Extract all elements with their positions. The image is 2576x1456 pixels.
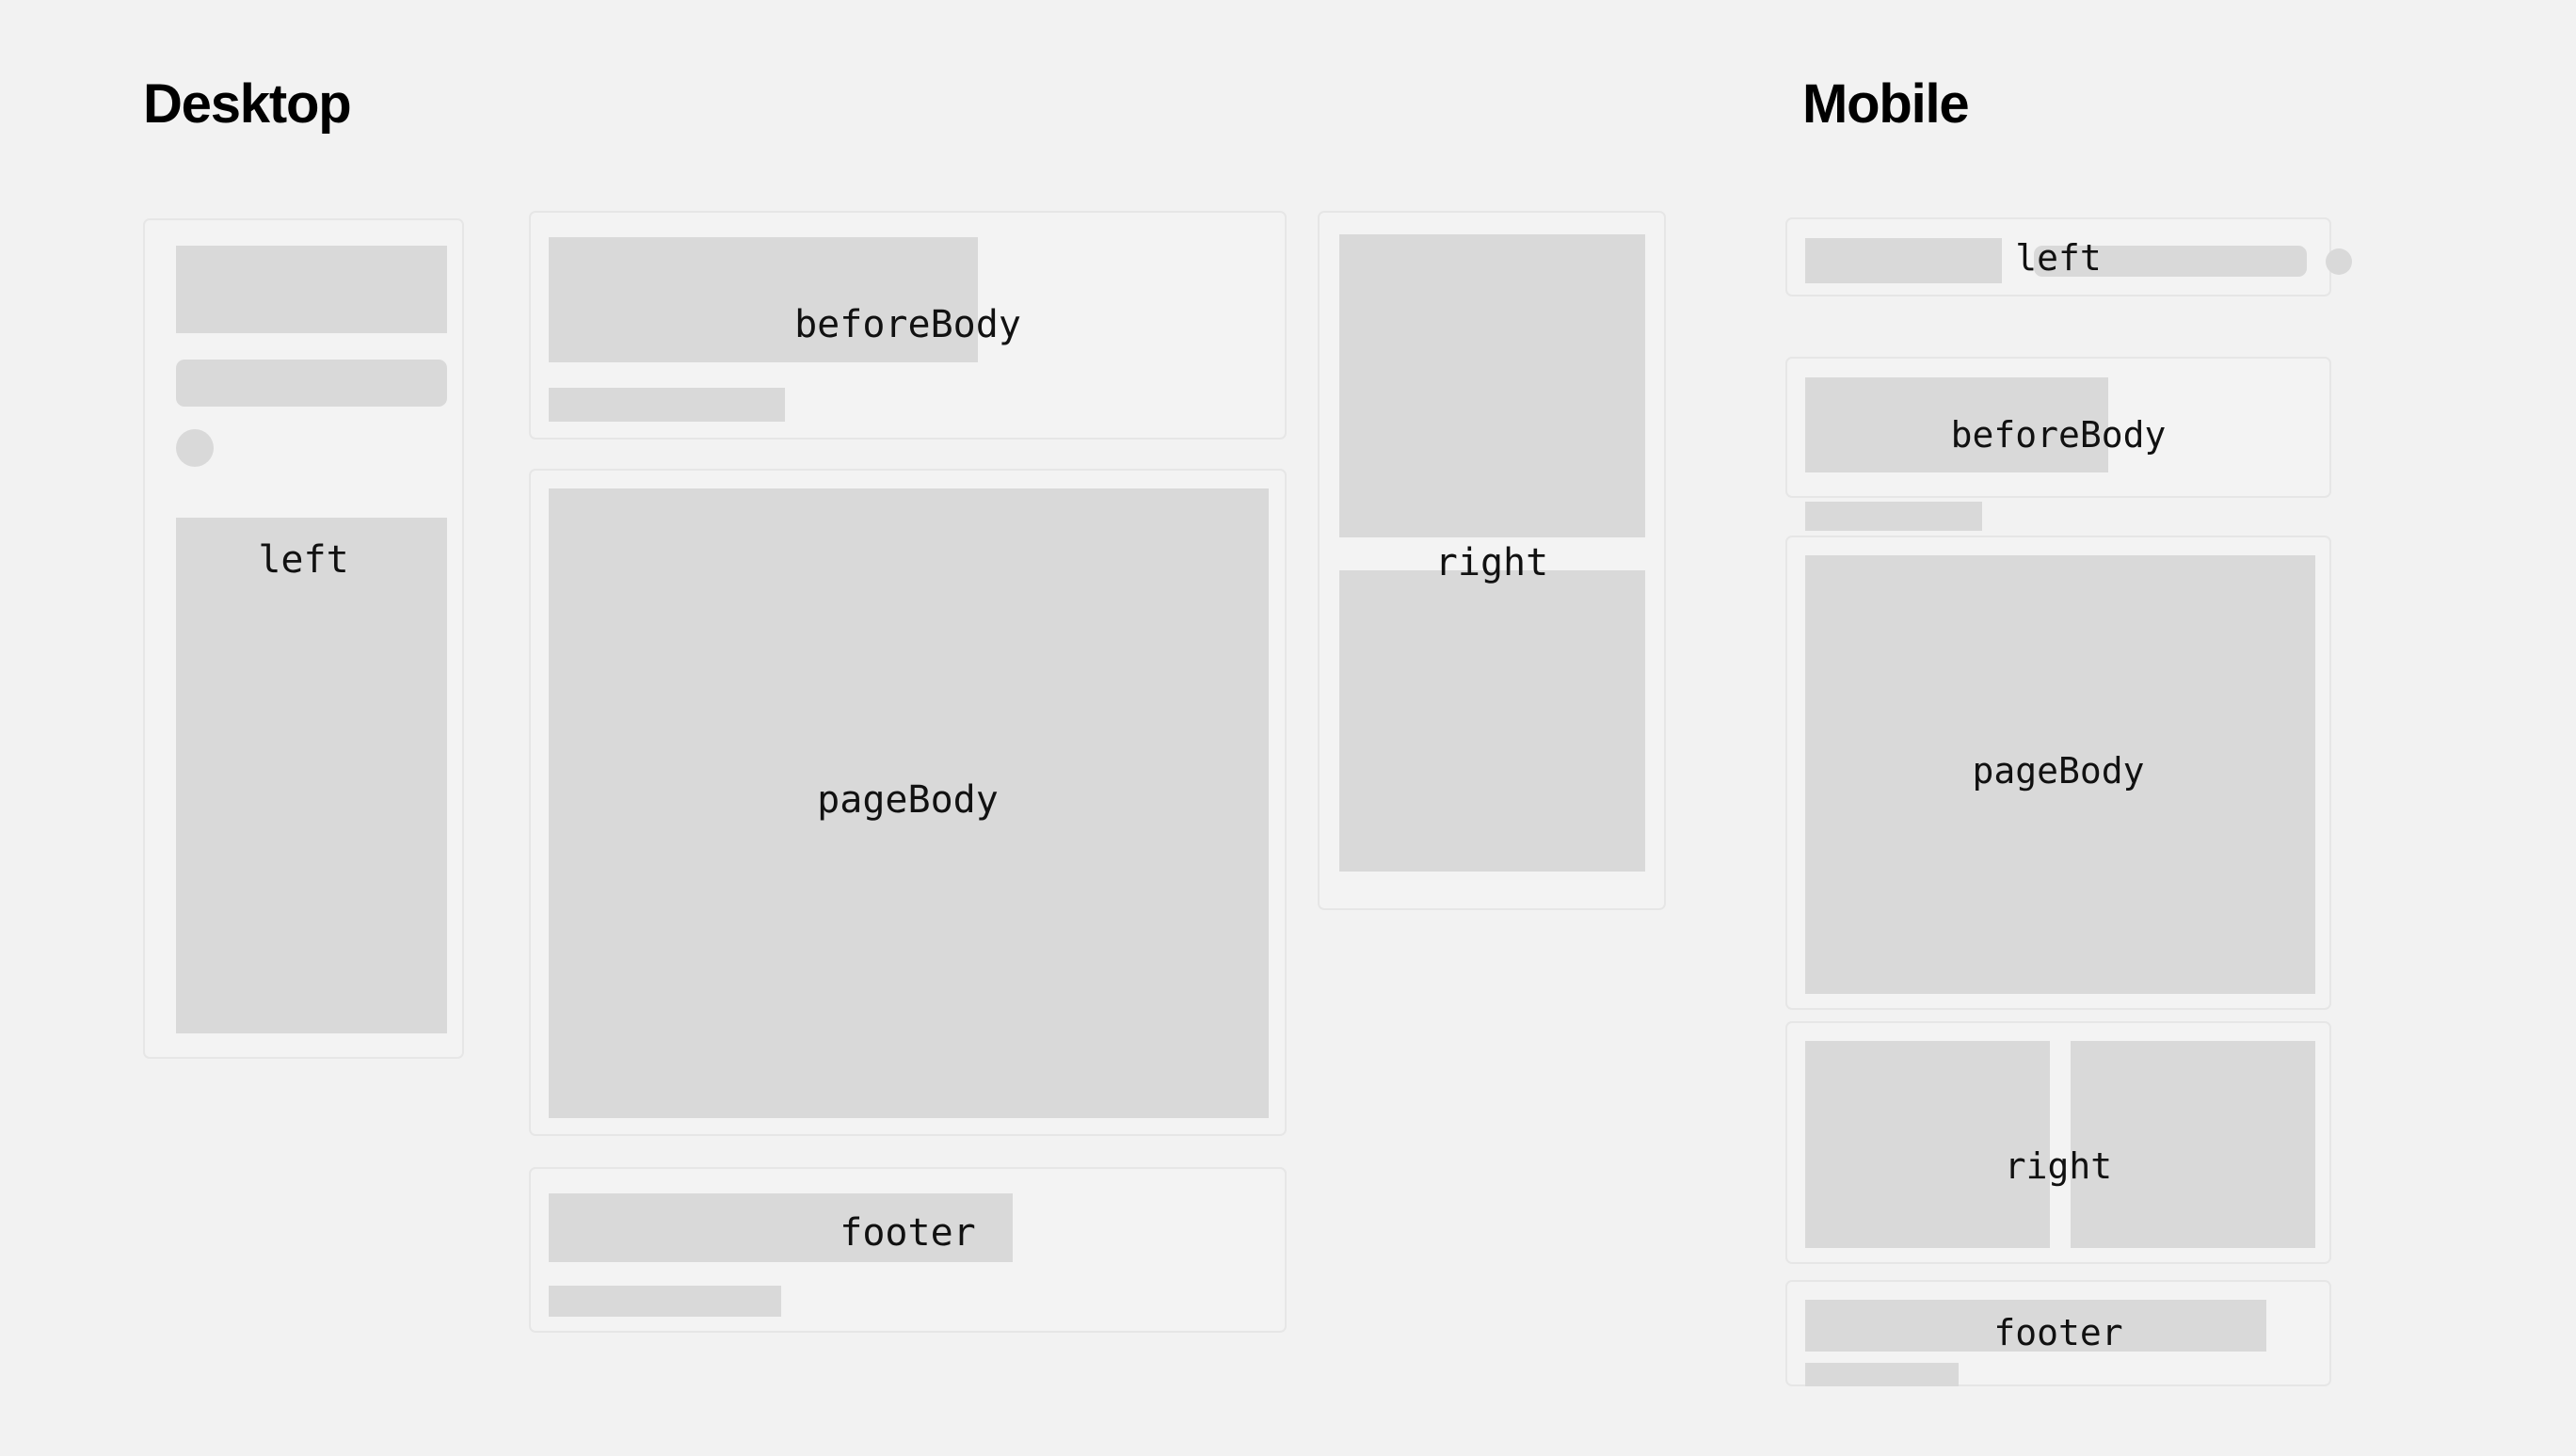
mobile-pagebody-region-card[interactable] <box>1785 536 2331 1010</box>
placeholder-block <box>1805 1041 2050 1248</box>
layout-preview-stage: Desktop left beforeBody pageBody footer … <box>0 0 2576 1456</box>
placeholder-block <box>549 488 1269 1118</box>
desktop-section-title: Desktop <box>143 77 350 132</box>
placeholder-avatar-circle <box>176 429 214 467</box>
placeholder-bar <box>2034 246 2307 277</box>
placeholder-block <box>1805 377 2108 472</box>
placeholder-block <box>1339 234 1645 537</box>
mobile-beforebody-region-card[interactable] <box>1785 357 2331 498</box>
desktop-beforebody-region-card[interactable] <box>529 211 1287 440</box>
desktop-footer-region-card[interactable] <box>529 1167 1287 1333</box>
placeholder-tall-block <box>176 518 447 1033</box>
desktop-pagebody-region-card[interactable] <box>529 469 1287 1136</box>
placeholder-block <box>1805 555 2315 994</box>
placeholder-bar <box>176 360 447 407</box>
placeholder-bar <box>1805 502 1982 531</box>
mobile-right-region-card[interactable] <box>1785 1021 2331 1264</box>
placeholder-block <box>1805 1300 2266 1352</box>
desktop-left-region-card[interactable] <box>143 218 464 1059</box>
mobile-section-title: Mobile <box>1802 77 1968 132</box>
placeholder-block <box>176 246 447 333</box>
placeholder-bar <box>1805 1363 1959 1386</box>
placeholder-bar <box>549 388 785 422</box>
mobile-footer-region-card[interactable] <box>1785 1280 2331 1386</box>
placeholder-block <box>549 237 978 362</box>
desktop-right-region-card[interactable] <box>1318 211 1666 910</box>
placeholder-avatar-circle <box>2326 248 2352 275</box>
mobile-left-region-card[interactable] <box>1785 217 2331 296</box>
placeholder-block <box>1805 238 2002 283</box>
placeholder-block <box>549 1193 1013 1262</box>
placeholder-block <box>1339 570 1645 872</box>
placeholder-block <box>2071 1041 2315 1248</box>
placeholder-bar <box>549 1286 781 1317</box>
